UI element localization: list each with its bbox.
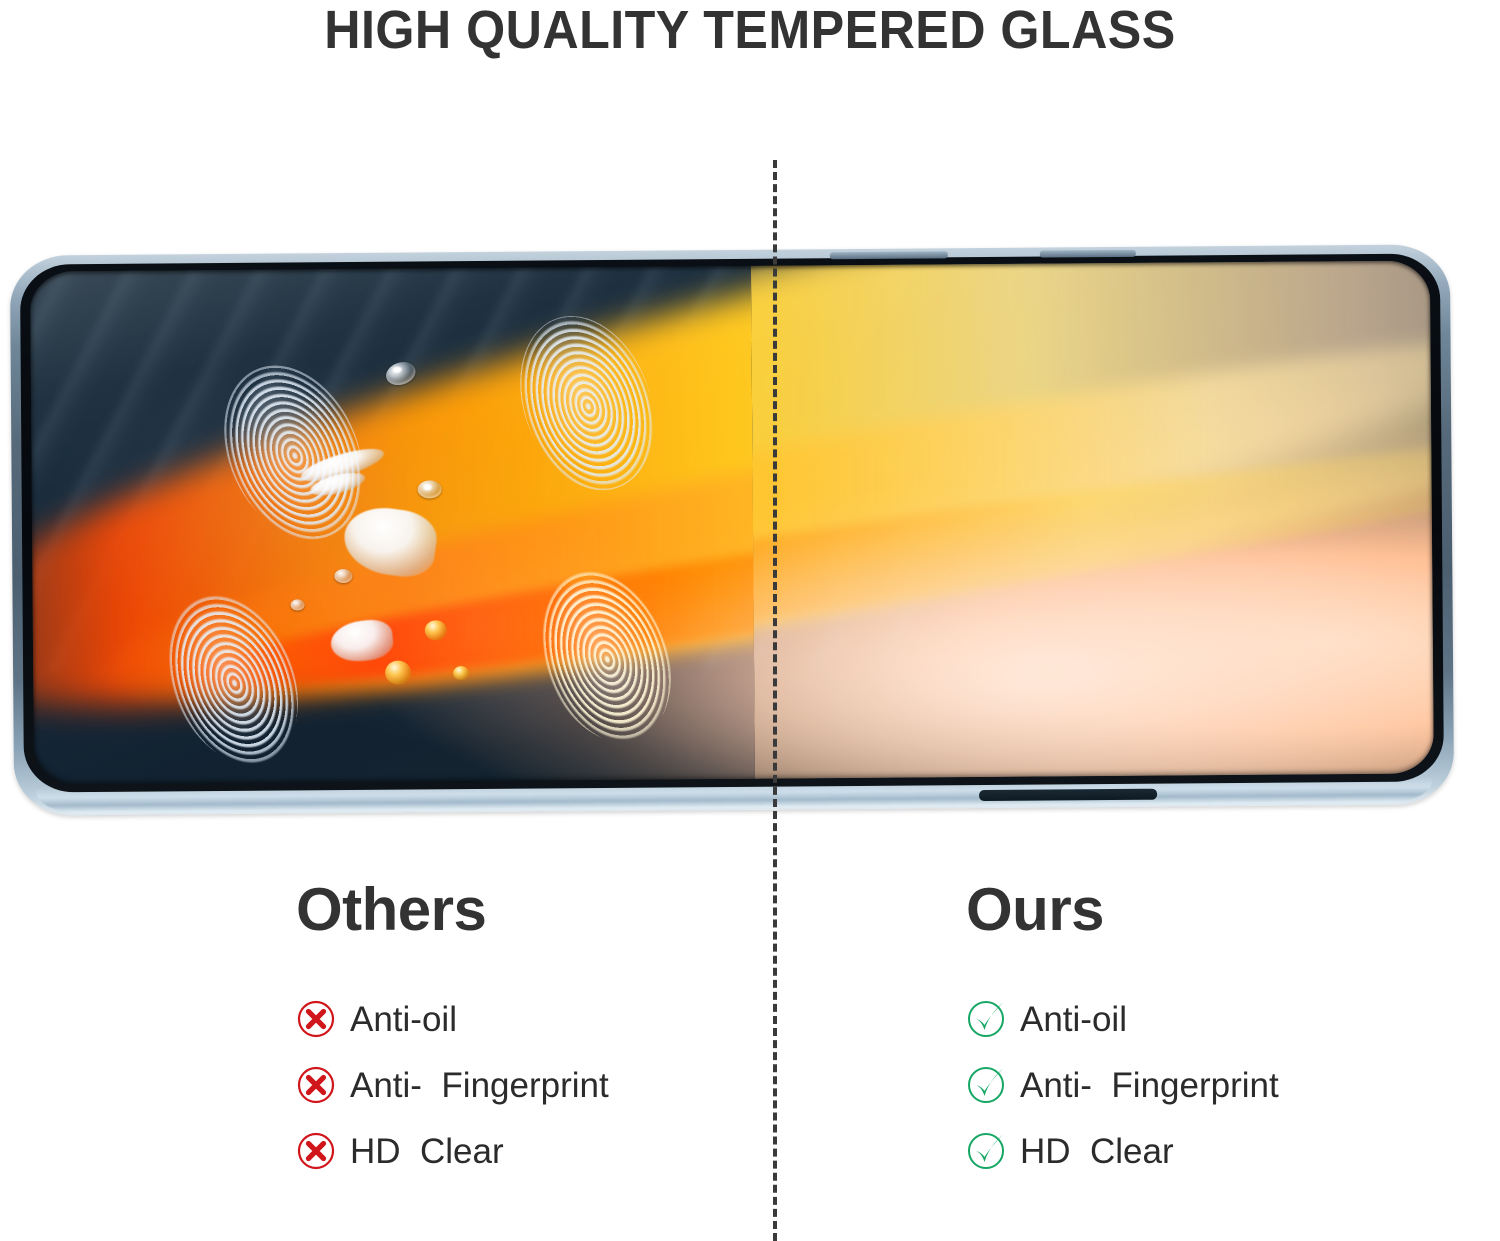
power-key-icon [1040, 250, 1136, 258]
product-image [0, 232, 1500, 842]
droplet-highlight-icon [393, 367, 402, 373]
feature-label: Anti- Fingerprint [350, 1068, 609, 1103]
column-title-ours: Ours [966, 880, 1279, 940]
check-circle-icon [966, 1131, 1006, 1171]
column-title-others: Others [296, 880, 609, 940]
comparison-column-ours: Ours Anti-oil Anti- Fingerprint [966, 880, 1279, 1184]
water-droplet-icon [334, 569, 352, 583]
water-droplet-icon [291, 599, 305, 610]
water-droplet-icon [385, 661, 411, 685]
page-title: HIGH QUALITY TEMPERED GLASS [53, 2, 1448, 59]
usb-port-icon [979, 789, 1157, 801]
cross-circle-icon [296, 999, 336, 1039]
smartphone-device [10, 244, 1454, 815]
water-droplet-icon [453, 666, 469, 680]
phone-screen [30, 261, 1434, 785]
droplet-highlight-icon [424, 484, 432, 490]
feature-row: Anti-oil [296, 986, 609, 1052]
feature-row: HD Clear [296, 1118, 609, 1184]
cross-circle-icon [296, 1131, 336, 1171]
cross-circle-icon [296, 1065, 336, 1105]
feature-label: Anti-oil [1020, 1002, 1127, 1037]
feature-row: Anti- Fingerprint [296, 1052, 609, 1118]
feature-label: Anti- Fingerprint [1020, 1068, 1279, 1103]
comparison-section: Others Anti-oil Anti- Fingerprint [0, 880, 1500, 1240]
comparison-column-others: Others Anti-oil Anti- Fingerprint [296, 880, 609, 1184]
check-circle-icon [966, 1065, 1006, 1105]
comparison-divider [773, 160, 777, 1241]
volume-key-icon [830, 251, 948, 259]
water-droplet-icon [425, 620, 447, 640]
check-circle-icon [966, 999, 1006, 1039]
feature-row: Anti-oil [966, 986, 1279, 1052]
screen-half-smudged [30, 266, 755, 785]
feature-row: Anti- Fingerprint [966, 1052, 1279, 1118]
feature-label: HD Clear [1020, 1134, 1174, 1169]
feature-label: Anti-oil [350, 1002, 457, 1037]
feature-label: HD Clear [350, 1134, 504, 1169]
feature-row: HD Clear [966, 1118, 1279, 1184]
screen-half-clean [751, 261, 1434, 779]
